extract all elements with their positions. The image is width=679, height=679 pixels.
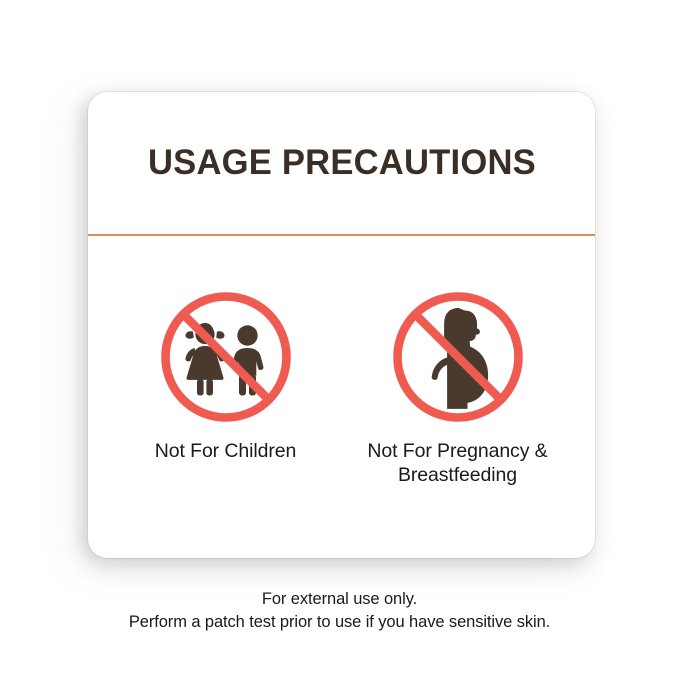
no-pregnancy-breastfeeding-icon <box>387 286 529 428</box>
no-children-icon <box>155 286 297 428</box>
precaution-item-pregnancy: Not For Pregnancy & Breastfeeding <box>342 234 574 488</box>
card-title-zone: USAGE PRECAUTIONS <box>88 92 595 234</box>
precautions-row: Not For Children <box>88 234 595 558</box>
precaution-label-pregnancy-line1: Not For Pregnancy & <box>367 440 547 462</box>
footer-line-1: For external use only. <box>0 588 679 611</box>
precaution-item-children: Not For Children <box>110 234 342 464</box>
usage-precautions-card: USAGE PRECAUTIONS <box>88 92 595 558</box>
precaution-label-pregnancy: Not For Pregnancy & Breastfeeding <box>367 440 547 488</box>
footer-line-2: Perform a patch test prior to use if you… <box>0 611 679 634</box>
precaution-label-pregnancy-line2: Breastfeeding <box>367 464 547 488</box>
page-title: USAGE PRECAUTIONS <box>148 145 536 181</box>
precaution-label-children-line1: Not For Children <box>155 440 296 462</box>
screenshot-stage: USAGE PRECAUTIONS <box>0 0 679 679</box>
precaution-label-children: Not For Children <box>155 440 296 464</box>
footer-note: For external use only. Perform a patch t… <box>0 588 679 635</box>
